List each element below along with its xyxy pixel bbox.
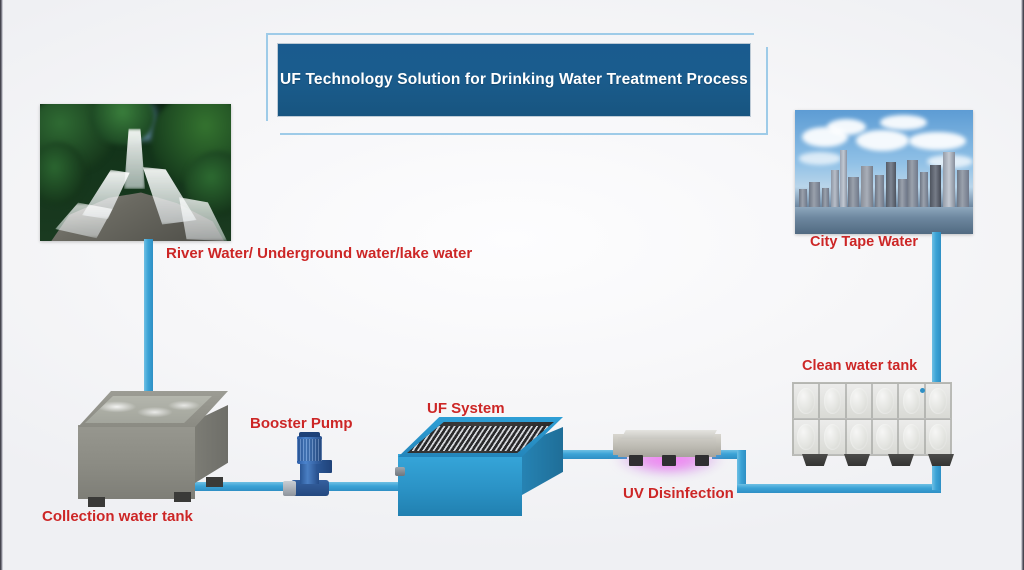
- building-shape: [920, 172, 929, 207]
- page-title: UF Technology Solution for Drinking Wate…: [280, 71, 748, 89]
- cloud-icon: [856, 130, 909, 151]
- building-shape: [840, 150, 847, 207]
- label-uv-disinfection: UV Disinfection: [623, 485, 734, 502]
- building-shape: [886, 162, 897, 207]
- cloud-icon: [909, 132, 966, 149]
- city-skyline-photo: [795, 110, 973, 234]
- harbor-water: [795, 207, 973, 234]
- building-shape: [848, 177, 859, 207]
- tank-panel: [846, 383, 872, 419]
- building-shape: [957, 170, 969, 207]
- uf-front-face: [398, 454, 522, 516]
- tank-panel: [819, 383, 845, 419]
- tank-panel: [819, 419, 845, 455]
- uv-foot: [695, 455, 709, 466]
- clean-tank-foot: [844, 454, 870, 466]
- tank-panel: [846, 419, 872, 455]
- uv-chamber-body: [618, 437, 716, 457]
- cloud-icon: [799, 152, 842, 164]
- collection-water-tank[interactable]: [78, 391, 228, 511]
- cloud-icon: [880, 115, 926, 130]
- cloud-icon: [827, 119, 866, 135]
- pump-inlet-flange: [283, 481, 296, 496]
- uv-disinfection-unit[interactable]: [617, 430, 721, 474]
- pump-cooling-fins: [297, 439, 322, 461]
- building-shape: [799, 189, 808, 206]
- tank-foot: [206, 477, 223, 487]
- tank-panel: [872, 383, 898, 419]
- clean-tank-panels: [792, 382, 952, 456]
- building-shape: [943, 152, 955, 207]
- label-clean-water-tank: Clean water tank: [802, 358, 917, 374]
- uf-inlet-port: [395, 467, 405, 476]
- pump-motor-cap: [299, 432, 320, 437]
- clean-tank-foot: [888, 454, 914, 466]
- building-shape: [861, 166, 873, 207]
- clean-tank-foot: [928, 454, 954, 466]
- tank-foot: [174, 492, 191, 502]
- uf-system[interactable]: [398, 417, 563, 523]
- label-collection-water-tank: Collection water tank: [42, 508, 193, 525]
- tank-panel: [925, 419, 951, 455]
- clean-water-tank[interactable]: [792, 382, 952, 468]
- label-booster-pump: Booster Pump: [250, 415, 353, 432]
- tank-panel: [925, 383, 951, 419]
- uv-foot: [662, 455, 676, 466]
- label-city-tap-water: City Tape Water: [810, 234, 918, 250]
- tank-panel: [793, 383, 819, 419]
- clean-tank-foot: [802, 454, 828, 466]
- uv-foot: [629, 455, 643, 466]
- building-shape: [809, 182, 820, 207]
- tank-panel: [872, 419, 898, 455]
- booster-pump[interactable]: [283, 436, 339, 498]
- building-shape: [898, 179, 907, 206]
- label-source-water: River Water/ Underground water/lake wate…: [166, 245, 472, 262]
- building-shape: [907, 160, 918, 207]
- title-banner: UF Technology Solution for Drinking Wate…: [278, 44, 750, 116]
- tree-foliage-icon: [40, 142, 86, 205]
- tank-panel: [898, 419, 924, 455]
- building-shape: [875, 175, 884, 207]
- diagram-canvas: UF Technology Solution for Drinking Wate…: [0, 0, 1024, 570]
- building-shape: [930, 165, 941, 207]
- waterfall-photo: [40, 104, 231, 241]
- building-shape: [831, 170, 840, 207]
- label-uf-system: UF System: [427, 400, 505, 417]
- tank-foot: [88, 497, 105, 507]
- pipe-source-to-collection-tank: [144, 239, 153, 405]
- clean-tank-valve: [920, 388, 925, 393]
- building-shape: [822, 188, 829, 207]
- pipe-to-clean-water-tank: [737, 484, 941, 493]
- tank-panel: [793, 419, 819, 455]
- tank-front-face: [78, 425, 195, 499]
- uv-chamber-top: [621, 430, 717, 439]
